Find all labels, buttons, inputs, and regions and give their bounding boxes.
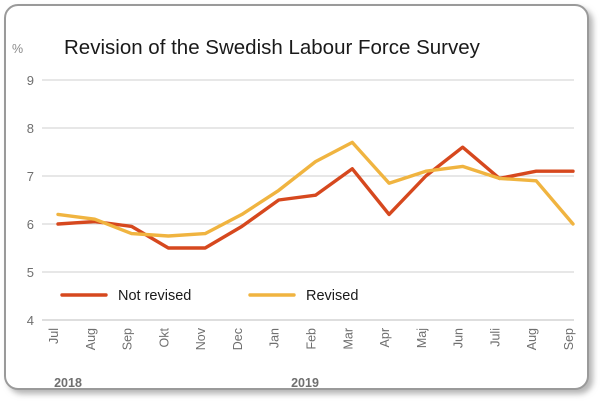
x-tick-label-nov: Nov [194,327,208,350]
legend: Not revised Revised [62,288,358,304]
gridlines [42,80,574,320]
legend-label-revised: Revised [306,288,358,304]
x-tick-label-jun: Jun [452,328,466,348]
x-tick-label-juli: Juli [488,328,502,347]
x-tick-label-aug: Aug [525,328,539,350]
chart-canvas: % Revision of the Swedish Labour Force S… [6,6,587,388]
line-chart-svg: % Revision of the Swedish Labour Force S… [6,6,591,392]
x-tick-label-sep: Sep [121,328,135,350]
x-tick-label-jul: Jul [47,328,61,344]
year-label-2018: 2018 [54,376,82,390]
x-tick-label-aug: Aug [84,328,98,350]
legend-label-not-revised: Not revised [118,288,191,304]
chart-frame: % Revision of the Swedish Labour Force S… [4,4,589,390]
year-label-2019: 2019 [291,376,319,390]
y-tick-label-4: 4 [27,313,34,328]
y-axis-unit-label: % [12,42,23,56]
x-tick-label-maj: Maj [415,328,429,348]
y-tick-label-8: 8 [27,121,34,136]
x-tick-label-sep: Sep [562,328,576,350]
x-tick-label-apr: Apr [378,328,392,347]
y-tick-label-5: 5 [27,265,34,280]
x-tick-label-jan: Jan [268,328,282,348]
y-tick-label-6: 6 [27,217,34,232]
data-series-layer [58,142,573,248]
x-tick-label-feb: Feb [305,328,319,350]
y-tick-label-9: 9 [27,73,34,88]
chart-title: Revision of the Swedish Labour Force Sur… [64,36,481,59]
series-line-revised [58,142,573,236]
x-tick-label-dec: Dec [231,328,245,350]
x-tick-label-okt: Okt [157,327,171,347]
y-axis-ticks: 9 8 7 6 5 4 [27,73,34,328]
year-group-labels: 2018 2019 [54,376,319,390]
x-axis-labels: JulAugSepOktNovDecJanFebMarAprMajJunJuli… [47,327,576,350]
y-tick-label-7: 7 [27,169,34,184]
x-tick-label-mar: Mar [341,328,355,350]
